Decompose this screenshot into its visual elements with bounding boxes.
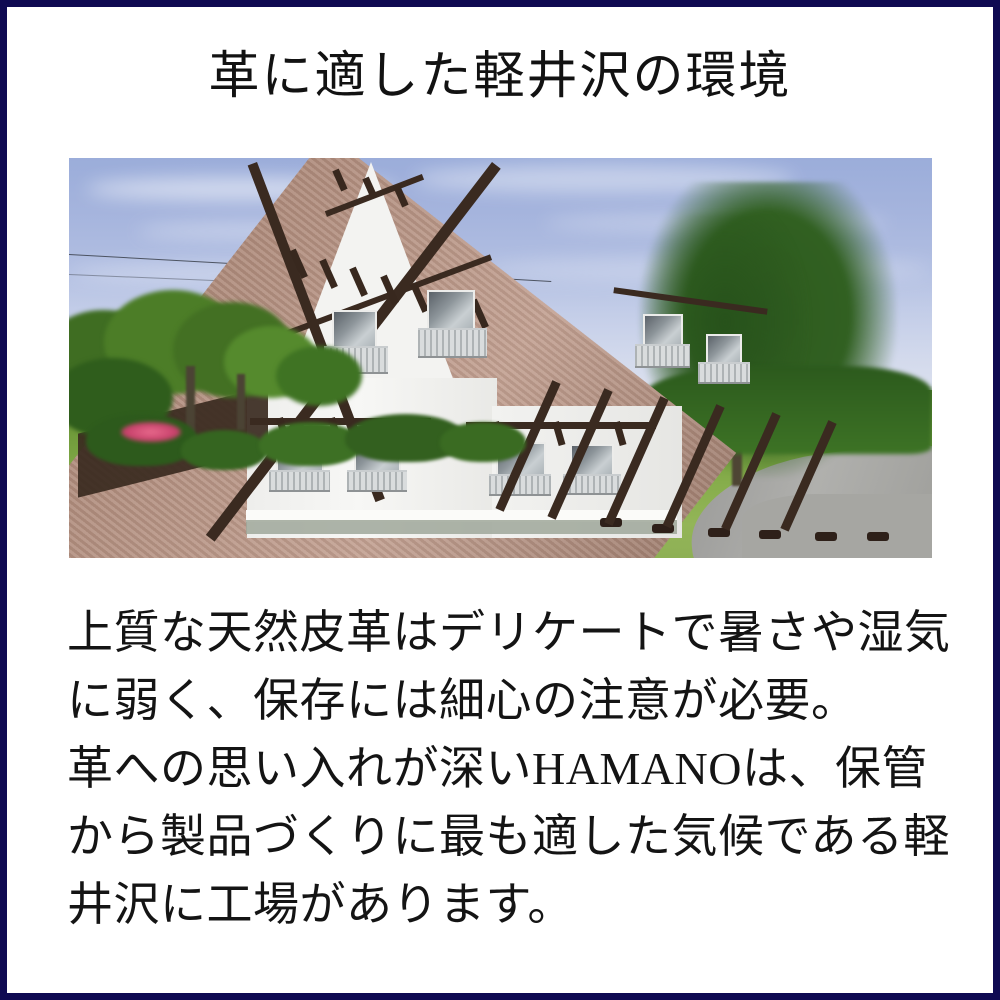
body-paragraph: 上質な天然皮革はデリケートで暑さや湿気 に弱く、保存には細心の注意が必要。 革へ…	[67, 599, 947, 939]
flowering-shrub	[121, 422, 181, 442]
strut-footing	[759, 530, 781, 539]
window	[427, 290, 475, 332]
strut-footing	[815, 532, 837, 541]
dormer-eave	[613, 287, 768, 315]
page-root: 革に適した軽井沢の環境	[0, 0, 1000, 1000]
strut-footing	[867, 532, 889, 541]
dormer-window	[643, 314, 683, 348]
body-line: に弱く、保存には細心の注意が必要。	[67, 667, 947, 735]
body-line: 井沢に工場があります。	[67, 871, 947, 939]
balcony-railing	[489, 474, 551, 496]
facility-photo	[69, 158, 932, 558]
support-strut	[781, 420, 837, 531]
tree-trunk	[237, 374, 245, 430]
photo-canvas	[69, 158, 932, 558]
balcony-railing	[347, 470, 407, 492]
body-line: から製品づくりに最も適した気候である軽	[67, 803, 947, 871]
deciduous-tree	[276, 346, 362, 406]
body-line: 上質な天然皮革はデリケートで暑さや湿気	[67, 599, 947, 667]
balcony-railing	[418, 328, 487, 358]
page-title: 革に適した軽井沢の環境	[7, 45, 993, 109]
shrub	[440, 422, 526, 462]
balcony-railing	[269, 470, 329, 492]
support-strut	[721, 412, 780, 531]
balcony-railing	[698, 362, 750, 384]
balcony-railing	[635, 344, 690, 368]
shrub	[181, 430, 267, 470]
window	[332, 310, 377, 350]
body-line: 革への思い入れが深いHAMANOは、保管	[67, 735, 947, 803]
